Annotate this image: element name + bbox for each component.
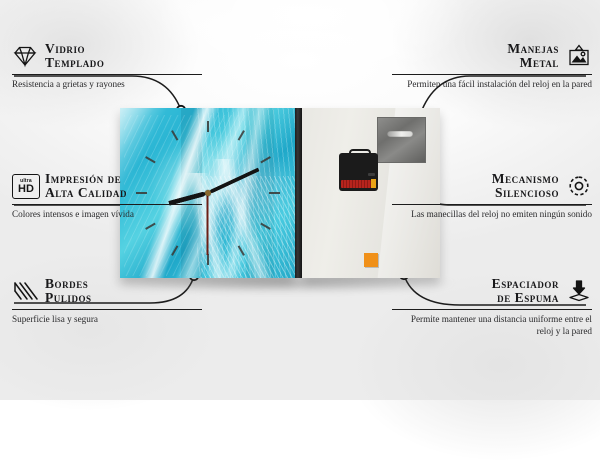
feature-description: Resistencia a grietas y rayones (12, 78, 202, 90)
feature-tempered-glass[interactable]: Vidrio Templado Resistencia a grietas y … (12, 42, 202, 90)
feature-hd-print[interactable]: ultra HD Impresión de Alta Calidad Color… (12, 172, 202, 220)
gear-icon (566, 174, 592, 198)
feature-title-line2: Silencioso (492, 186, 559, 200)
battery-terminal (371, 179, 376, 188)
infographic-canvas: Vidrio Templado Resistencia a grietas y … (0, 0, 600, 400)
feature-description: Permite mantener una distancia uniforme … (392, 313, 592, 337)
diagonal-lines-icon (12, 279, 38, 303)
clock-center-cap (205, 190, 211, 196)
clock-tick (145, 223, 156, 230)
feature-foam-spacer[interactable]: Espaciador de Espuma Permite mantener un… (392, 277, 592, 337)
metal-hanger-plate (377, 117, 426, 163)
feature-silent-mechanism[interactable]: Mecanismo Silencioso Las manecillas del … (392, 172, 592, 220)
feature-title: Manejas Metal (507, 42, 559, 71)
clock-second-hand (207, 193, 209, 255)
feature-title-line2: Metal (507, 56, 559, 70)
feature-divider (12, 74, 202, 75)
battery (341, 180, 371, 188)
diamond-icon (12, 44, 38, 68)
feature-description: Colores intensos e imagen vívida (12, 208, 202, 220)
feature-title-line1: Bordes (45, 277, 92, 291)
feature-polished-edges[interactable]: Bordes Pulidos Superficie lisa y segura (12, 277, 202, 325)
clock-tick (171, 130, 178, 141)
movement-hook (349, 149, 371, 157)
feature-description: Permiten una fácil instalación del reloj… (392, 78, 592, 90)
feature-title: Mecanismo Silencioso (492, 172, 559, 201)
foam-spacer-pad (364, 253, 378, 267)
feature-divider (12, 204, 202, 205)
clock-tick (237, 130, 244, 141)
clock-tick (207, 254, 209, 265)
feature-title-line2: Pulidos (45, 291, 92, 305)
feature-title-line1: Impresión de (45, 172, 127, 186)
clock-tick (260, 223, 271, 230)
clock-tick (145, 156, 156, 163)
feature-title-line2: de Espuma (492, 291, 559, 305)
feature-description: Las manecillas del reloj no emiten ningú… (392, 208, 592, 220)
clock-tick (260, 156, 271, 163)
hanging-picture-icon (566, 44, 592, 68)
feature-divider (392, 74, 592, 75)
clock-minute-hand (207, 168, 259, 195)
feature-title-line1: Mecanismo (492, 172, 559, 186)
feature-description: Superficie lisa y segura (12, 313, 202, 325)
feature-divider (12, 309, 202, 310)
feature-title-line2: Templado (45, 56, 104, 70)
feature-title-line1: Vidrio (45, 42, 104, 56)
feature-title: Vidrio Templado (45, 42, 104, 71)
clock-movement (339, 153, 378, 191)
glass-edge (295, 108, 302, 278)
clock-tick (269, 192, 280, 194)
feature-title: Espaciador de Espuma (492, 277, 559, 306)
ultra-hd-icon: ultra HD (12, 174, 38, 198)
feature-title: Bordes Pulidos (45, 277, 92, 306)
clock-tick (171, 245, 178, 256)
ultra-hd-icon-main-label: HD (18, 184, 34, 195)
feature-title-line1: Espaciador (492, 277, 559, 291)
feature-title-line2: Alta Calidad (45, 186, 127, 200)
feature-title-line1: Manejas (507, 42, 559, 56)
clock-tick (237, 245, 244, 256)
feature-metal-hangers[interactable]: Manejas Metal Permiten una fácil instala… (392, 42, 592, 90)
feature-divider (392, 204, 592, 205)
feature-divider (392, 309, 592, 310)
movement-detail (368, 173, 375, 176)
hanger-slot (387, 131, 413, 137)
clock-tick (207, 121, 209, 132)
press-down-icon (566, 279, 592, 303)
feature-title: Impresión de Alta Calidad (45, 172, 127, 201)
